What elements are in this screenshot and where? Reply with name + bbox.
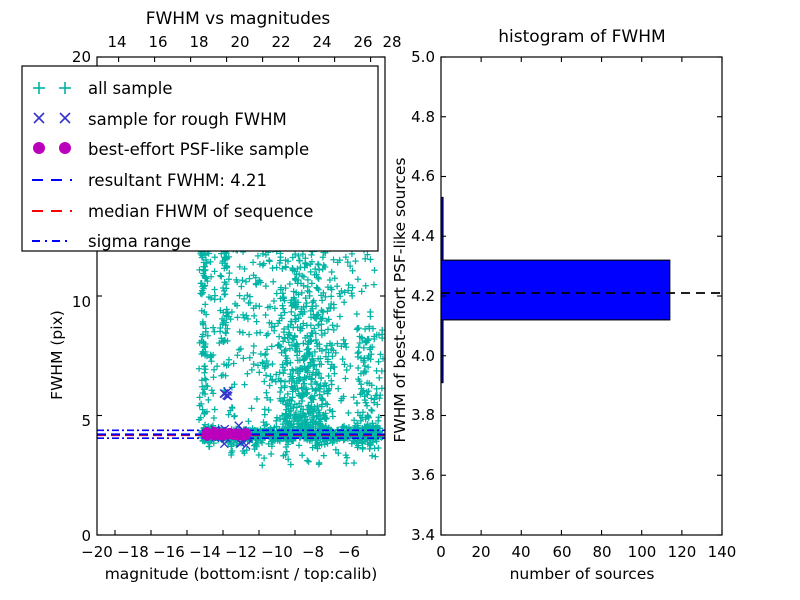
x-tick-label: −20 <box>81 543 113 561</box>
top-tick-label: 24 <box>312 33 331 51</box>
legend-label: all sample <box>88 79 173 98</box>
x-tick-label: 80 <box>592 543 611 561</box>
psf-sample-point <box>218 429 226 437</box>
psf-sample-point <box>210 432 218 440</box>
y-tick-label: 20 <box>72 48 91 66</box>
histogram-title: histogram of FWHM <box>498 27 665 47</box>
legend-label: best-effort PSF-like sample <box>88 140 309 159</box>
top-tick-label: 16 <box>148 33 167 51</box>
y-tick-label: 4.2 <box>411 287 435 305</box>
legend-label: sigma range <box>88 232 191 251</box>
x-tick-label: 40 <box>511 543 530 561</box>
scatter-y-axis-label: FWHM (pix) <box>48 310 66 400</box>
legend-label: median FHWM of sequence <box>88 202 313 221</box>
figure-canvas: FWHM vs magnitudes 14 16 18 20 22 24 26 … <box>0 0 800 600</box>
y-tick-label: 5 <box>81 412 91 430</box>
scatter-title: FWHM vs magnitudes <box>146 9 331 29</box>
x-tick-label: −16 <box>153 543 185 561</box>
top-tick-label: 14 <box>107 33 126 51</box>
x-tick-label: 60 <box>552 543 571 561</box>
x-tick-label: −10 <box>261 543 293 561</box>
x-tick-label: 140 <box>708 543 737 561</box>
y-tick-label: 3.4 <box>411 526 435 544</box>
histogram-y-axis-label: FWHM of best-effort PSF-like sources <box>391 157 409 442</box>
histogram-bar <box>441 260 670 320</box>
y-tick-label: 4.4 <box>411 227 435 245</box>
x-tick-label: 120 <box>668 543 697 561</box>
x-tick-label: 0 <box>436 543 446 561</box>
x-tick-label: 100 <box>628 543 657 561</box>
top-tick-label: 26 <box>353 33 372 51</box>
scatter-x-axis-label: magnitude (bottom:isnt / top:calib) <box>105 565 378 583</box>
histogram-x-axis-label: number of sources <box>510 565 655 583</box>
x-tick-label: −8 <box>302 543 324 561</box>
y-tick-label: 3.8 <box>411 406 435 424</box>
x-tick-label: −14 <box>189 543 221 561</box>
psf-sample-point <box>236 429 244 437</box>
top-tick-label: 22 <box>271 33 290 51</box>
matplotlib-figure: FWHM vs magnitudes 14 16 18 20 22 24 26 … <box>0 0 800 600</box>
y-tick-label: 4.0 <box>411 347 435 365</box>
y-tick-label: 5.0 <box>411 48 435 66</box>
series-psf-sample <box>201 427 251 441</box>
scatter-x-ticklabels: −20 −18 −16 −14 −12 −10 −8 −6 <box>81 543 360 561</box>
x-tick-label: −6 <box>338 543 360 561</box>
x-tick-label: −18 <box>117 543 149 561</box>
plot-legend[interactable]: all sample sample for rough FWHM best-ef… <box>22 66 378 251</box>
legend-label: resultant FWHM: 4.21 <box>88 171 267 190</box>
y-tick-label: 4.8 <box>411 108 435 126</box>
y-tick-label: 4.6 <box>411 167 435 185</box>
x-tick-label: −12 <box>225 543 257 561</box>
top-tick-label: 18 <box>189 33 208 51</box>
legend-label: sample for rough FWHM <box>88 110 287 129</box>
histogram-y-ticklabels: 5.0 4.8 4.6 4.4 4.2 4.0 3.8 3.6 3.4 <box>411 48 435 544</box>
top-tick-label: 28 <box>382 33 401 51</box>
x-tick-label: 20 <box>471 543 490 561</box>
top-tick-label: 20 <box>230 33 249 51</box>
y-tick-label: 3.6 <box>411 466 435 484</box>
y-tick-label: 10 <box>72 293 91 311</box>
